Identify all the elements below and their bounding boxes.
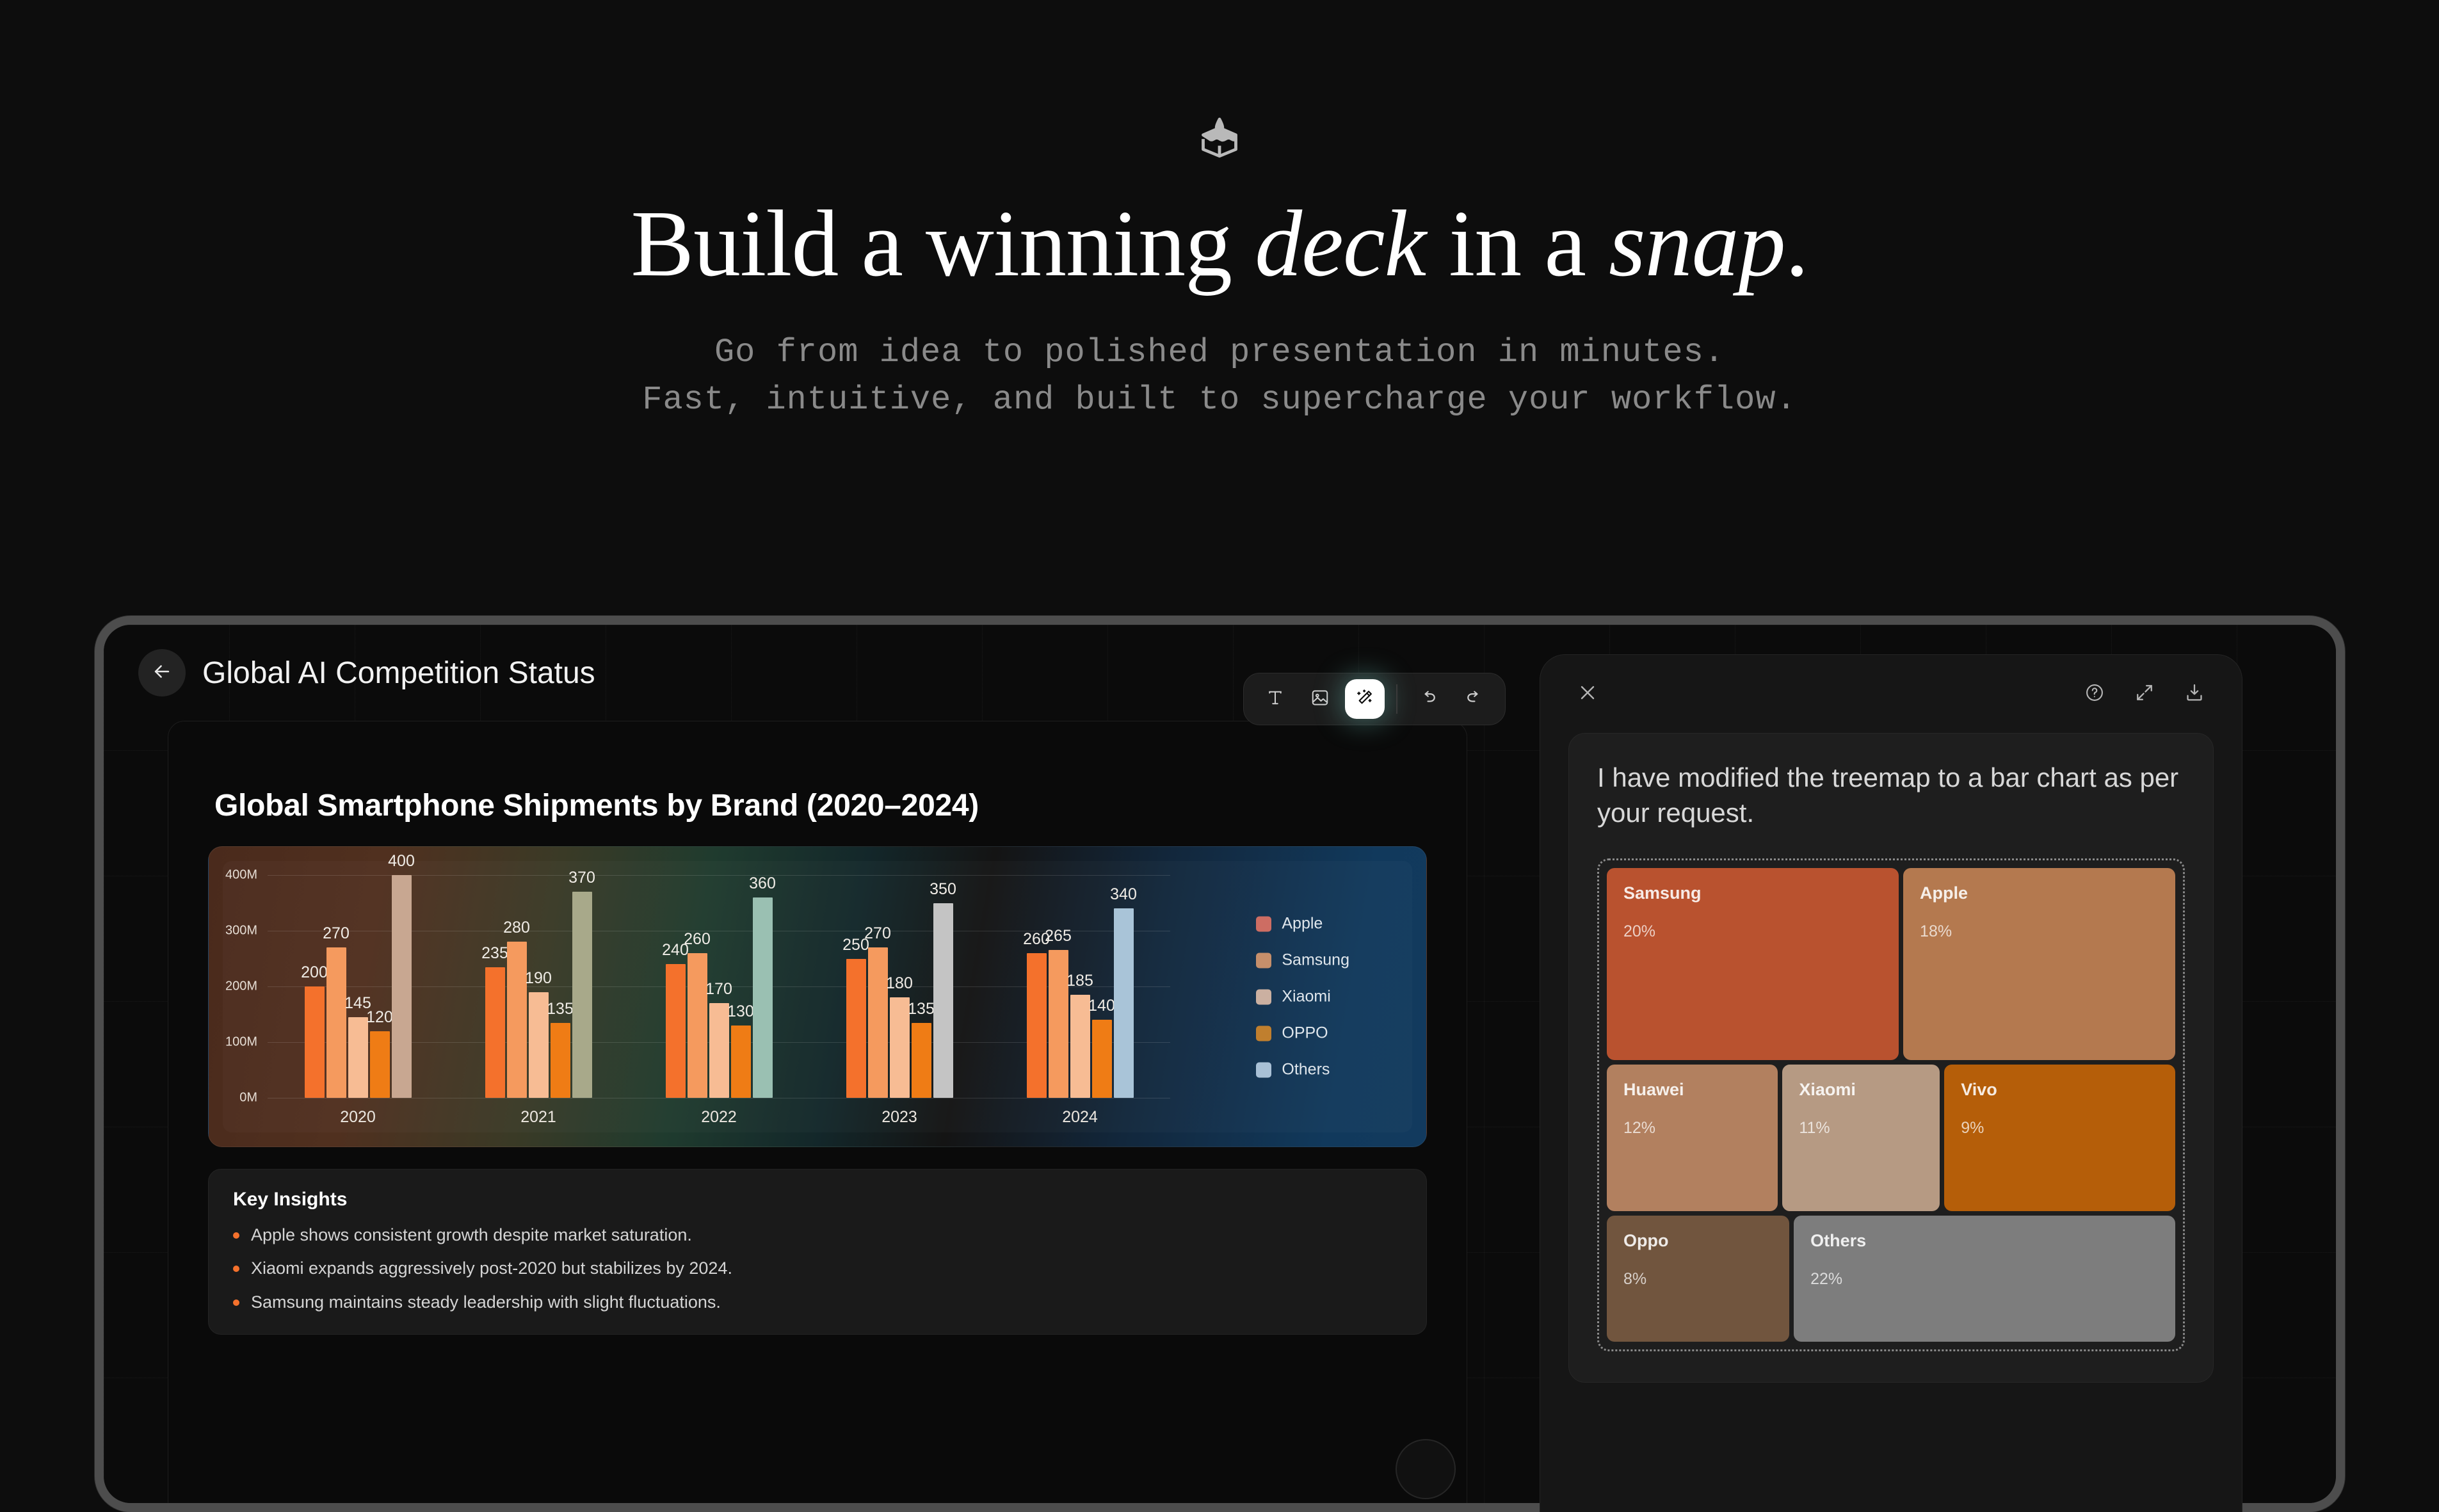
image-tool-button[interactable] bbox=[1300, 679, 1340, 719]
bar[interactable]: 130 bbox=[731, 1025, 751, 1098]
bar[interactable]: 400 bbox=[392, 875, 412, 1098]
bar-value-label: 340 bbox=[1110, 885, 1137, 904]
redo-button[interactable] bbox=[1454, 679, 1493, 719]
bar-group: 2602651851403402024 bbox=[1027, 875, 1134, 1098]
undo-icon bbox=[1419, 688, 1438, 711]
expand-icon bbox=[2134, 682, 2155, 707]
bar[interactable]: 260 bbox=[688, 953, 707, 1098]
bar[interactable]: 270 bbox=[868, 947, 888, 1098]
bar[interactable]: 260 bbox=[1027, 953, 1047, 1098]
key-insight-item: Samsung maintains steady leadership with… bbox=[233, 1292, 1402, 1312]
bar[interactable]: 360 bbox=[753, 897, 773, 1098]
x-axis-tick-label: 2022 bbox=[701, 1108, 737, 1127]
x-axis-tick-label: 2024 bbox=[1062, 1108, 1098, 1127]
treemap-cell-label: Huawei bbox=[1623, 1080, 1761, 1100]
legend-item[interactable]: Apple bbox=[1256, 915, 1349, 933]
treemap-cell[interactable]: Others22% bbox=[1794, 1216, 2175, 1342]
legend-swatch bbox=[1256, 989, 1271, 1004]
legend-label: OPPO bbox=[1282, 1024, 1328, 1043]
gridline bbox=[268, 1098, 1170, 1098]
key-insight-text: Xiaomi expands aggressively post-2020 bu… bbox=[251, 1258, 732, 1278]
treemap-cell-value: 20% bbox=[1623, 922, 1882, 941]
treemap-cell-value: 11% bbox=[1799, 1119, 1923, 1138]
key-insights-list: Apple shows consistent growth despite ma… bbox=[233, 1225, 1402, 1312]
logo bbox=[0, 109, 2439, 166]
bar-value-label: 135 bbox=[908, 1000, 935, 1018]
slide-canvas[interactable]: Global Smartphone Shipments by Brand (20… bbox=[168, 721, 1467, 1503]
y-axis-tick-label: 400M bbox=[225, 868, 257, 883]
treemap-cell-label: Apple bbox=[1920, 883, 2159, 903]
back-button[interactable] bbox=[138, 649, 186, 696]
bar[interactable]: 370 bbox=[572, 892, 592, 1098]
treemap-row: Huawei12%Xiaomi11%Vivo9% bbox=[1607, 1065, 2175, 1211]
magic-wand-icon bbox=[1355, 688, 1374, 711]
image-icon bbox=[1310, 688, 1330, 711]
assistant-message-card: I have modified the treemap to a bar cha… bbox=[1568, 733, 2214, 1383]
bar-value-label: 265 bbox=[1045, 927, 1072, 945]
bullet-icon bbox=[233, 1299, 239, 1306]
key-insight-text: Apple shows consistent growth despite ma… bbox=[251, 1225, 692, 1245]
y-axis-tick-label: 100M bbox=[225, 1035, 257, 1050]
legend-item[interactable]: Others bbox=[1256, 1061, 1349, 1079]
legend-swatch bbox=[1256, 1062, 1271, 1077]
assistant-message-text: I have modified the treemap to a bar cha… bbox=[1597, 760, 2185, 830]
legend-swatch bbox=[1256, 953, 1271, 968]
bar[interactable]: 180 bbox=[890, 997, 910, 1098]
treemap-cell-value: 8% bbox=[1623, 1270, 1773, 1289]
bar-value-label: 120 bbox=[366, 1008, 393, 1027]
treemap-cell[interactable]: Apple18% bbox=[1903, 868, 2175, 1060]
page-title: Build a winning deck in a snap. bbox=[0, 193, 2439, 296]
treemap-cell-value: 22% bbox=[1810, 1270, 2159, 1289]
key-insight-item: Apple shows consistent growth despite ma… bbox=[233, 1225, 1402, 1245]
bar[interactable]: 120 bbox=[370, 1031, 390, 1098]
editor-toolbar bbox=[1243, 673, 1506, 725]
treemap-row: Oppo8%Others22% bbox=[1607, 1216, 2175, 1342]
legend-label: Apple bbox=[1282, 915, 1323, 933]
legend-item[interactable]: Xiaomi bbox=[1256, 988, 1349, 1006]
bar[interactable]: 270 bbox=[326, 947, 346, 1098]
treemap-row: Samsung20%Apple18% bbox=[1607, 868, 2175, 1060]
treemap-cell-label: Xiaomi bbox=[1799, 1080, 1923, 1100]
bar[interactable]: 190 bbox=[529, 992, 549, 1098]
treemap-cell[interactable]: Oppo8% bbox=[1607, 1216, 1789, 1342]
bar[interactable]: 170 bbox=[709, 1003, 729, 1098]
subtitle-line-2: Fast, intuitive, and built to supercharg… bbox=[642, 381, 1796, 419]
bar[interactable]: 240 bbox=[666, 964, 686, 1098]
assistant-panel-header bbox=[1540, 655, 2242, 733]
download-icon bbox=[2184, 682, 2205, 707]
help-button[interactable] bbox=[2078, 677, 2111, 711]
bar-value-label: 190 bbox=[525, 969, 552, 988]
y-axis-tick-label: 0M bbox=[239, 1091, 257, 1106]
x-axis-tick-label: 2020 bbox=[340, 1108, 376, 1127]
assistant-header-actions bbox=[2078, 677, 2211, 711]
treemap-cell-label: Samsung bbox=[1623, 883, 1882, 903]
bar-value-label: 200 bbox=[301, 963, 328, 982]
toolbar-divider bbox=[1396, 684, 1397, 714]
treemap-cell[interactable]: Huawei12% bbox=[1607, 1065, 1778, 1211]
headline-italic-snap: snap bbox=[1609, 191, 1785, 296]
x-axis-tick-label: 2023 bbox=[881, 1108, 917, 1127]
bar[interactable]: 140 bbox=[1092, 1020, 1112, 1098]
assistant-panel: I have modified the treemap to a bar cha… bbox=[1540, 654, 2242, 1512]
subtitle-line-1: Go from idea to polished presentation in… bbox=[714, 334, 1725, 371]
bar[interactable]: 350 bbox=[933, 903, 953, 1098]
hero-section: Build a winning deck in a snap. Go from … bbox=[0, 0, 2439, 423]
bar[interactable]: 135 bbox=[912, 1023, 931, 1098]
bar[interactable]: 235 bbox=[485, 967, 505, 1098]
bar[interactable]: 200 bbox=[305, 986, 325, 1098]
text-icon bbox=[1266, 688, 1285, 711]
legend-swatch bbox=[1256, 1025, 1271, 1041]
slide-thumbnail-chip[interactable] bbox=[1396, 1439, 1456, 1499]
deck-title: Global AI Competition Status bbox=[202, 655, 595, 691]
page-subtitle: Go from idea to polished presentation in… bbox=[0, 329, 2439, 424]
close-button[interactable] bbox=[1571, 677, 1604, 711]
treemap-cell-value: 9% bbox=[1961, 1119, 2159, 1138]
bar-value-label: 180 bbox=[886, 974, 913, 993]
headline-italic-deck: deck bbox=[1255, 191, 1426, 296]
legend-label: Others bbox=[1282, 1061, 1330, 1079]
chart-bar-groups: 2002701451204002020235280190135370202124… bbox=[268, 875, 1170, 1098]
bar[interactable]: 340 bbox=[1114, 908, 1134, 1098]
bar-value-label: 270 bbox=[323, 924, 350, 943]
chart-container[interactable]: 0M100M200M300M400M 200270145120400202023… bbox=[208, 846, 1427, 1147]
bar-value-label: 270 bbox=[864, 924, 891, 943]
bar-value-label: 350 bbox=[930, 880, 956, 899]
treemap-chart: Samsung20%Apple18%Huawei12%Xiaomi11%Vivo… bbox=[1607, 868, 2175, 1342]
bar[interactable]: 145 bbox=[348, 1017, 368, 1098]
legend-item[interactable]: OPPO bbox=[1256, 1024, 1349, 1043]
bar-value-label: 140 bbox=[1088, 997, 1115, 1015]
treemap-cell[interactable]: Samsung20% bbox=[1607, 868, 1899, 1060]
undo-button[interactable] bbox=[1409, 679, 1449, 719]
headline-seg-3: . bbox=[1785, 191, 1808, 296]
key-insight-text: Samsung maintains steady leadership with… bbox=[251, 1292, 721, 1312]
key-insight-item: Xiaomi expands aggressively post-2020 bu… bbox=[233, 1258, 1402, 1278]
bar[interactable]: 280 bbox=[507, 942, 527, 1098]
redo-icon bbox=[1464, 688, 1483, 711]
expand-button[interactable] bbox=[2128, 677, 2161, 711]
bar-group: 2402601701303602022 bbox=[666, 875, 773, 1098]
key-insights-card: Key Insights Apple shows consistent grow… bbox=[208, 1169, 1427, 1335]
arrow-left-icon bbox=[151, 661, 173, 686]
chart-plot-area: 0M100M200M300M400M 200270145120400202023… bbox=[268, 875, 1170, 1098]
treemap-cell-label: Oppo bbox=[1623, 1231, 1773, 1251]
treemap-selection-frame[interactable]: Samsung20%Apple18%Huawei12%Xiaomi11%Vivo… bbox=[1597, 858, 2185, 1351]
key-insights-title: Key Insights bbox=[233, 1189, 1402, 1210]
bar[interactable]: 135 bbox=[551, 1023, 570, 1098]
x-axis-tick-label: 2021 bbox=[520, 1108, 556, 1127]
bar-group: 2002701451204002020 bbox=[305, 875, 412, 1098]
chart-legend: AppleSamsungXiaomiOPPOOthers bbox=[1256, 915, 1349, 1079]
bar[interactable]: 185 bbox=[1070, 995, 1090, 1098]
bar-value-label: 360 bbox=[749, 874, 776, 893]
headline-seg-2: in a bbox=[1426, 191, 1609, 296]
bar-value-label: 170 bbox=[705, 980, 732, 999]
treemap-cell[interactable]: Vivo9% bbox=[1944, 1065, 2175, 1211]
bar-value-label: 185 bbox=[1067, 972, 1093, 990]
bar-group: 2352801901353702021 bbox=[485, 875, 592, 1098]
treemap-cell-value: 12% bbox=[1623, 1119, 1761, 1138]
text-tool-button[interactable] bbox=[1255, 679, 1295, 719]
bar[interactable]: 265 bbox=[1049, 950, 1068, 1098]
bar-value-label: 135 bbox=[547, 1000, 574, 1018]
bar-value-label: 370 bbox=[568, 869, 595, 887]
magic-tool-button[interactable] bbox=[1345, 679, 1385, 719]
bar-value-label: 130 bbox=[727, 1002, 754, 1021]
headline-seg-1: Build a winning bbox=[631, 191, 1255, 296]
bullet-icon bbox=[233, 1266, 239, 1272]
bar-value-label: 235 bbox=[481, 944, 508, 963]
bar[interactable]: 250 bbox=[846, 959, 866, 1098]
download-button[interactable] bbox=[2178, 677, 2211, 711]
bullet-icon bbox=[233, 1232, 239, 1239]
treemap-cell[interactable]: Xiaomi11% bbox=[1782, 1065, 1940, 1211]
y-axis-tick-label: 200M bbox=[225, 979, 257, 994]
chart-title: Global Smartphone Shipments by Brand (20… bbox=[214, 788, 1427, 823]
treemap-cell-value: 18% bbox=[1920, 922, 2159, 941]
y-axis-tick-label: 300M bbox=[225, 924, 257, 938]
legend-swatch bbox=[1256, 916, 1271, 931]
bar-value-label: 400 bbox=[388, 852, 415, 871]
bar-group: 2502701801353502023 bbox=[846, 875, 953, 1098]
legend-label: Xiaomi bbox=[1282, 988, 1330, 1006]
legend-label: Samsung bbox=[1282, 951, 1349, 970]
bar-value-label: 280 bbox=[503, 919, 530, 937]
treemap-cell-label: Others bbox=[1810, 1231, 2159, 1251]
close-icon bbox=[1576, 681, 1599, 707]
legend-item[interactable]: Samsung bbox=[1256, 951, 1349, 970]
cake-slice-icon bbox=[1196, 115, 1243, 161]
bar-value-label: 260 bbox=[684, 930, 711, 949]
treemap-cell-label: Vivo bbox=[1961, 1080, 2159, 1100]
help-circle-icon bbox=[2084, 682, 2105, 707]
